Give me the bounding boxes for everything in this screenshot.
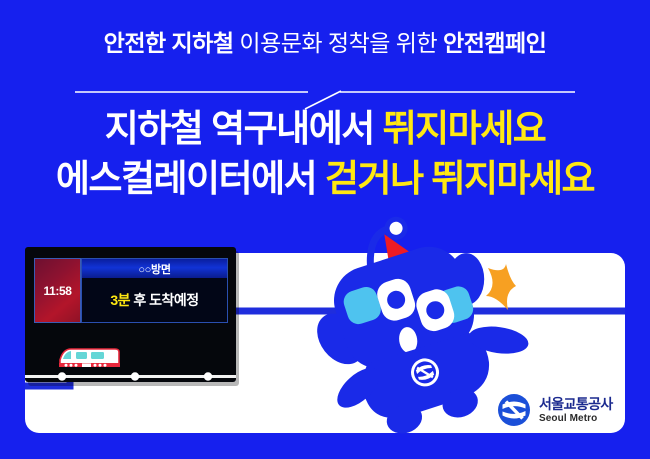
headline-line2-highlight: 걷거나 뛰지마세요: [325, 158, 594, 199]
slash-divider-icon: [0, 84, 650, 110]
headline-line-1: 지하철 역구내에서 뛰지마세요: [0, 110, 650, 147]
poster-root: 안전한 지하철 이용문화 정착을 위한 안전캠페인 지하철 역구내에서 뛰지마세…: [0, 0, 650, 459]
logo-text: 서울교통공사 Seoul Metro: [539, 397, 613, 424]
track-line-icon: [25, 371, 236, 383]
headline-line-2: 에스컬레이터에서 걷거나 뛰지마세요: [0, 160, 650, 197]
destination-board: ○○방면 3분 후 도착예정: [81, 258, 228, 323]
sparkle-icon: [484, 262, 520, 314]
train-icon: [57, 345, 122, 372]
logo-name-en: Seoul Metro: [539, 414, 613, 424]
destination-bar: ○○방면: [82, 259, 227, 278]
seoul-metro-s-logo-icon: [497, 393, 531, 427]
headline-line1-plain: 지하철 역구내에서: [105, 108, 383, 149]
headline-line2-plain: 에스컬레이터에서: [56, 158, 325, 199]
destination-text: ○○방면: [138, 261, 170, 277]
kicker-part2: 이용문화 정착을 위한: [234, 30, 444, 56]
kicker-part1: 안전한 지하철: [104, 30, 234, 56]
arrival-bar: 3분 후 도착예정: [82, 278, 227, 321]
arrival-text: 3분 후 도착예정: [110, 290, 198, 310]
arrival-suffix: 후 도착예정: [130, 292, 199, 308]
seoul-metro-mascot: [316, 213, 526, 428]
clock-time: 11:58: [43, 284, 71, 298]
clock-panel: 11:58: [34, 258, 81, 323]
seoul-metro-logo: 서울교통공사 Seoul Metro: [497, 390, 617, 430]
arrival-minutes: 3분: [110, 292, 130, 308]
headline-line1-highlight: 뛰지마세요: [383, 108, 546, 149]
logo-name-kr: 서울교통공사: [539, 397, 613, 411]
kicker-text: 안전한 지하철 이용문화 정착을 위한 안전캠페인: [0, 32, 650, 55]
kicker-part3: 안전캠페인: [443, 30, 546, 56]
